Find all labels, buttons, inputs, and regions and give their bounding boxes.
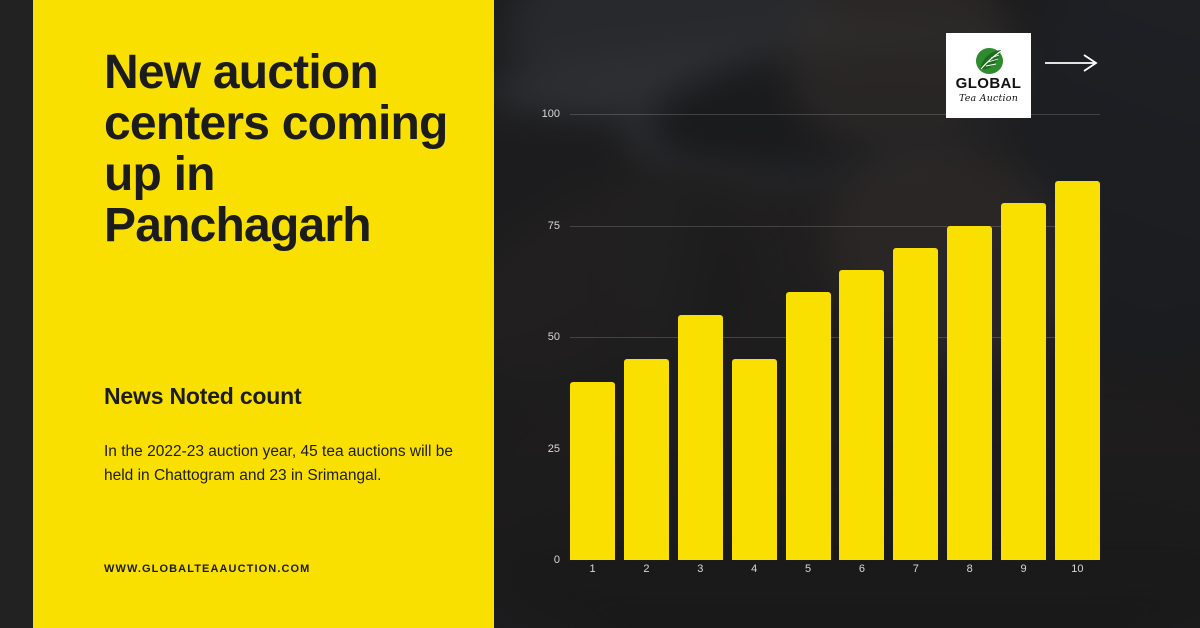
bar-9[interactable] [1001,203,1046,560]
x-axis-tick-2: 2 [624,563,669,575]
bar-chart: 100 75 50 25 0 12345678910 [494,0,1200,628]
poster-canvas: 100 75 50 25 0 12345678910 GLOBAL [0,0,1200,628]
bar-slot [678,114,723,560]
body-paragraph: In the 2022-23 auction year, 45 tea auct… [104,440,454,488]
brand-logo[interactable]: GLOBAL Tea Auction [946,33,1031,118]
bar-2[interactable] [624,359,669,560]
yellow-content-panel: New auction centers coming up in Panchag… [33,0,494,628]
bar-6[interactable] [839,270,884,560]
bar-slot [839,114,884,560]
website-url[interactable]: WWW.GLOBALTEAAUCTION.COM [104,563,310,575]
arrow-right-icon[interactable] [1044,53,1100,73]
y-axis-tick-0: 0 [554,554,560,566]
x-axis-labels: 12345678910 [570,563,1100,575]
y-axis-tick-75: 75 [548,220,560,232]
chart-plot-area: 100 75 50 25 0 [570,114,1100,560]
tea-leaf-icon [974,47,1004,75]
y-axis-tick-50: 50 [548,331,560,343]
bar-3[interactable] [678,315,723,560]
x-axis-tick-6: 6 [839,563,884,575]
bar-slot [1055,114,1100,560]
x-axis-tick-3: 3 [678,563,723,575]
x-axis-tick-9: 9 [1001,563,1046,575]
bar-series [570,114,1100,560]
bar-slot [732,114,777,560]
bar-slot [893,114,938,560]
x-axis-tick-4: 4 [732,563,777,575]
page-title: New auction centers coming up in Panchag… [104,47,474,251]
logo-wordmark: GLOBAL [956,76,1022,92]
y-axis-tick-25: 25 [548,443,560,455]
bar-4[interactable] [732,359,777,560]
x-axis-tick-1: 1 [570,563,615,575]
section-subtitle: News Noted count [104,383,301,410]
x-axis-tick-7: 7 [893,563,938,575]
bar-slot [570,114,615,560]
bar-slot [624,114,669,560]
logo-tagline: Tea Auction [959,93,1018,104]
y-axis-tick-100: 100 [542,108,560,120]
gridline-0: 0 [570,560,1100,561]
x-axis-tick-5: 5 [786,563,831,575]
bar-5[interactable] [786,292,831,560]
bar-slot [947,114,992,560]
x-axis-tick-8: 8 [947,563,992,575]
x-axis-tick-10: 10 [1055,563,1100,575]
bar-7[interactable] [893,248,938,560]
bar-1[interactable] [570,382,615,560]
bar-8[interactable] [947,226,992,561]
bar-slot [786,114,831,560]
bar-slot [1001,114,1046,560]
bar-10[interactable] [1055,181,1100,560]
